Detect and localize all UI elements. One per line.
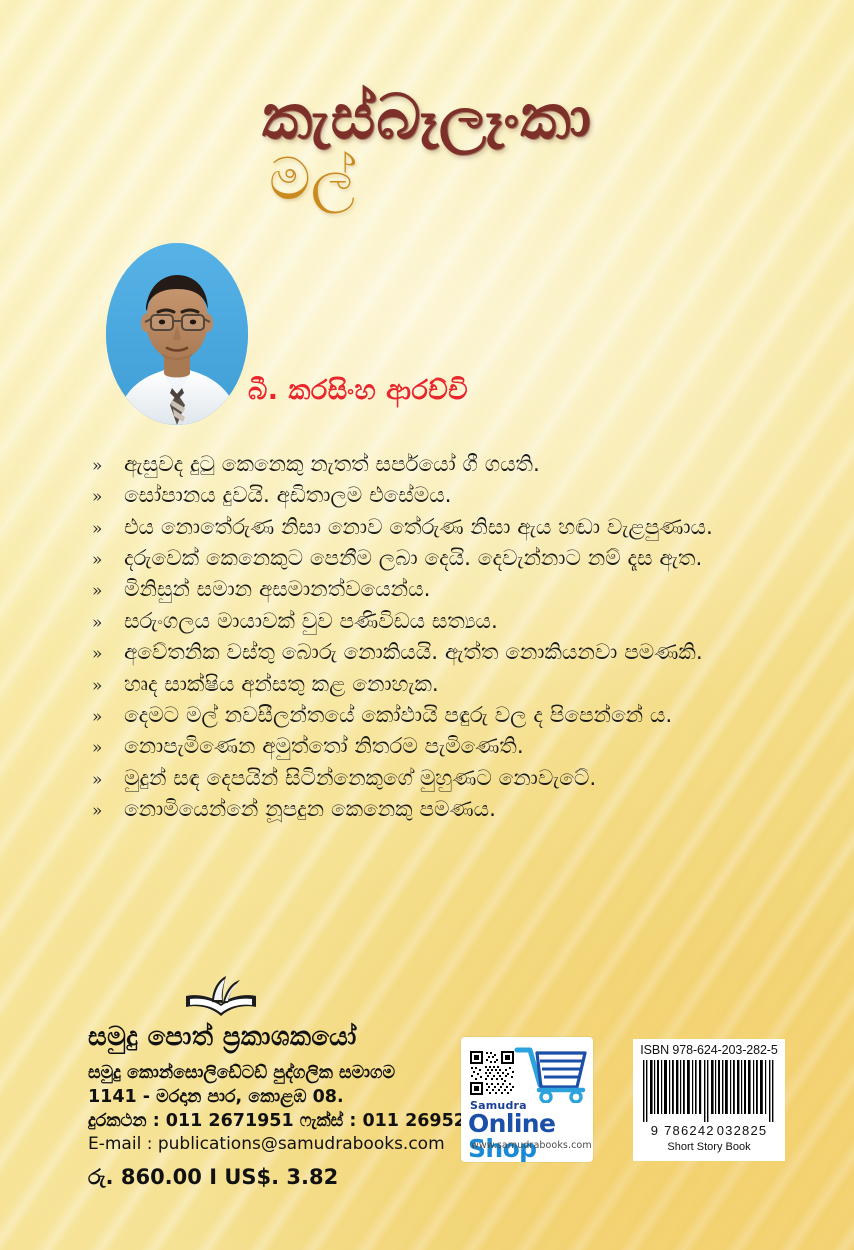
list-item-text: ඇසුවද දුටු කෙනෙකු නැතත් සර්පයෝ ගී ගයති. — [124, 452, 812, 477]
list-item: » නොපැමිණෙන අමුත්තෝ නිතරම පැමිණෙති. — [92, 734, 812, 759]
bullet-marker-icon: » — [92, 766, 124, 790]
publisher-company: සමුදු කොන්සොලිඩේටඩ් පුද්ගලික සමාගම — [88, 1061, 488, 1085]
book-price: රු. 860.00 I US$. 3.82 — [88, 1165, 488, 1190]
isbn-barcode-block: ISBN 978-624-203-282-5 — [633, 1039, 785, 1161]
bullet-marker-icon: » — [92, 672, 124, 696]
bullet-marker-icon: » — [92, 640, 124, 664]
list-item: » හෘද සාක්ෂිය අන්සතු කළ නොහැක. — [92, 672, 812, 697]
list-item: » දෙමට මල් නවසීලන්තයේ කෝඵායි පඳුරු වල ද … — [92, 703, 812, 728]
list-item-text: මිනිසුන් සමාන අසමානත්වයෙන්ය. — [124, 577, 812, 602]
bullet-marker-icon: » — [92, 797, 124, 821]
list-item-text: සෝපානය දුවයි. අඩිතාලම එසේමය. — [124, 483, 812, 508]
list-item-text: සරුංගලය මායාවක් වුව පණිවිඩය සත්‍යය. — [124, 609, 812, 634]
online-shop-badge[interactable]: Samudra Online Shop www.samudrabooks.com — [461, 1037, 593, 1162]
book-back-cover: කැස්බෑලෑංකා මල් — [0, 0, 854, 1250]
author-block: බී. කරසිංහ ආරච්චි — [100, 243, 620, 433]
bullet-marker-icon: » — [92, 703, 124, 727]
quotes-list: » ඇසුවද දුටු කෙනෙකු නැතත් සර්පයෝ ගී ගයති… — [92, 452, 812, 828]
list-item-text: දරුවෙක් කෙනෙකුට පෙනීම ලබා දෙයි. දෙවැන්නා… — [124, 546, 812, 571]
open-book-logo-icon — [182, 972, 260, 1020]
author-portrait — [106, 243, 248, 425]
barcode-digits-left: 786242 — [664, 1123, 715, 1138]
list-item-text: එය නොතේරුණ නිසා නොව තේරුණ නිසා ඇය හඬා වැ… — [124, 515, 812, 540]
list-item-text: හෘද සාක්ෂිය අන්සතු කළ නොහැක. — [124, 672, 812, 697]
qr-code-icon[interactable] — [469, 1050, 515, 1096]
list-item: » නොමියෙන්නේ නූපදුන කෙනෙකු පමණය. — [92, 797, 812, 822]
list-item: » මිනිසුන් සමාන අසමානත්වයෙන්ය. — [92, 577, 812, 602]
list-item: » අවේතනික වස්තු බොරු නොකියයි. ඇත්ත නොකිය… — [92, 640, 812, 665]
bullet-marker-icon: » — [92, 452, 124, 476]
publisher-block: සමුදු පොත් ප්‍රකාශකයෝ සමුදු කොන්සොලිඩේටඩ… — [88, 972, 488, 1190]
author-name: බී. කරසිංහ ආරච්චි — [248, 375, 468, 407]
list-item-text: නොමියෙන්නේ නූපදුන කෙනෙකු පමණය. — [124, 797, 812, 822]
list-item: » ඇසුවද දුටු කෙනෙකු නැතත් සර්පයෝ ගී ගයති… — [92, 452, 812, 477]
list-item: » සෝපානය දුවයි. අඩිතාලම එසේමය. — [92, 483, 812, 508]
publisher-phone: දුරකථන : 011 2671951 ෆැක්ස් : 011 269528… — [88, 1109, 488, 1133]
bullet-marker-icon: » — [92, 483, 124, 507]
list-item: » සරුංගලය මායාවක් වුව පණිවිඩය සත්‍යය. — [92, 609, 812, 634]
list-item-text: දෙමට මල් නවසීලන්තයේ කෝඵායි පඳුරු වල ද පි… — [124, 703, 812, 728]
barcode-image — [639, 1060, 779, 1122]
barcode-digits: 9 786242 032825 — [633, 1123, 785, 1138]
publisher-address: 1141 - මරදාන පාර, කොළඹ 08. — [88, 1085, 488, 1109]
bullet-marker-icon: » — [92, 577, 124, 601]
shopping-cart-icon — [513, 1043, 589, 1103]
shop-url: www.samudrabooks.com — [471, 1140, 592, 1151]
list-item-text: මුදුන් සඳ දෙපයින් සිටින්නෙකුගේ මුහුණට නො… — [124, 766, 812, 791]
isbn-number: ISBN 978-624-203-282-5 — [633, 1043, 785, 1057]
bullet-marker-icon: » — [92, 609, 124, 633]
publisher-email: E-mail : publications@samudrabooks.com — [88, 1133, 488, 1156]
bullet-marker-icon: » — [92, 734, 124, 758]
barcode-digit-lead: 9 — [651, 1123, 659, 1138]
publisher-name: සමුදු පොත් ප්‍රකාශකයෝ — [88, 1022, 488, 1053]
list-item: » එය නොතේරුණ නිසා නොව තේරුණ නිසා ඇය හඬා … — [92, 515, 812, 540]
bullet-marker-icon: » — [92, 515, 124, 539]
list-item: » දරුවෙක් කෙනෙකුට පෙනීම ලබා දෙයි. දෙවැන්… — [92, 546, 812, 571]
book-title-main: කැස්බෑලෑංකා — [0, 84, 854, 149]
book-title-block: කැස්බෑලෑංකා මල් — [0, 84, 854, 214]
barcode-digits-right: 032825 — [717, 1123, 768, 1138]
book-title-sub: මල් — [0, 145, 854, 214]
list-item: » මුදුන් සඳ දෙපයින් සිටින්නෙකුගේ මුහුණට … — [92, 766, 812, 791]
book-category-caption: Short Story Book — [633, 1141, 785, 1153]
bullet-marker-icon: » — [92, 546, 124, 570]
shop-title: Online Shop — [468, 1111, 593, 1161]
list-item-text: අවේතනික වස්තු බොරු නොකියයි. ඇත්ත නොකියනව… — [124, 640, 812, 665]
list-item-text: නොපැමිණෙන අමුත්තෝ නිතරම පැමිණෙති. — [124, 734, 812, 759]
